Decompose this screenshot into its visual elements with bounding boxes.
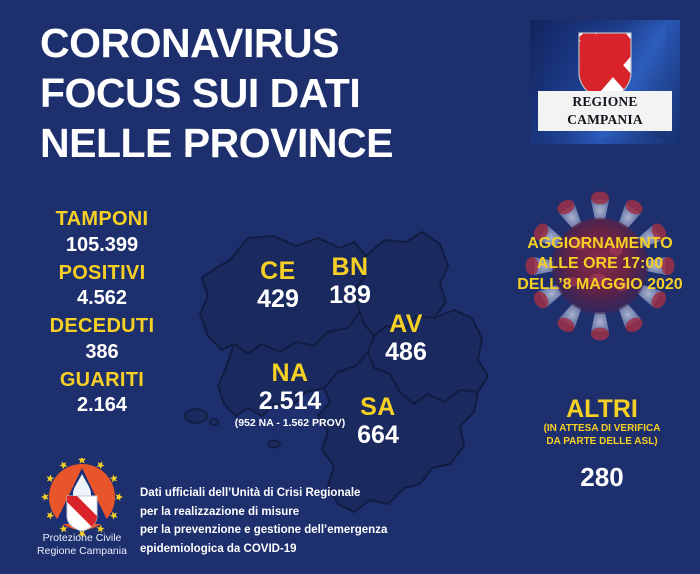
province-label-napoli: NA 2.514 (952 NA - 1.562 PROV): [222, 360, 358, 429]
province-note-na: (952 NA - 1.562 PROV): [222, 417, 358, 430]
stat-item: POSITIVI 4.562: [22, 262, 182, 313]
title-line-1: CORONAVIRUS: [40, 18, 490, 68]
stat-label-guariti: GUARITI: [22, 369, 182, 393]
altri-title: ALTRI: [512, 396, 692, 422]
province-code-ce: CE: [238, 258, 318, 285]
footer-note: Dati ufficiali dell’Unità di Crisi Regio…: [140, 484, 470, 559]
footer-line-2: per la realizzazione di misure: [140, 503, 470, 522]
update-text: AGGIORNAMENTO ALLE ORE 17:00 DELL’8 MAGG…: [506, 234, 694, 295]
stat-value-positivi: 4.562: [22, 285, 182, 312]
footer-line-1: Dati ufficiali dell’Unità di Crisi Regio…: [140, 484, 470, 503]
pc-caption-line-1: Protezione Civile: [28, 532, 136, 545]
island-ischia: [185, 409, 207, 423]
regione-campania-logo: REGIONE CAMPANIA: [530, 20, 680, 144]
footer-line-4: epidemiologica da COVID-19: [140, 540, 470, 559]
province-label-benevento: BN 189: [312, 254, 388, 311]
stat-value-tamponi: 105.399: [22, 232, 182, 259]
page-title: CORONAVIRUS FOCUS SUI DATI NELLE PROVINC…: [40, 18, 490, 168]
province-value-na: 2.514: [222, 387, 358, 417]
protezione-civile-caption: Protezione Civile Regione Campania: [28, 532, 136, 559]
regione-name-text: REGIONE CAMPANIA: [567, 94, 643, 127]
stat-item: DECEDUTI 386: [22, 315, 182, 366]
protezione-civile-icon: [35, 458, 129, 536]
province-value-av: 486: [366, 338, 446, 368]
province-label-caserta: CE 429: [238, 258, 318, 315]
altri-note-line-1: (IN ATTESA DI VERIFICA: [512, 423, 692, 435]
statistics-panel: TAMPONI 105.399 POSITIVI 4.562 DECEDUTI …: [22, 208, 182, 422]
province-value-sa: 664: [340, 421, 416, 451]
altri-note-line-2: DA PARTE DELLE ASL): [512, 436, 692, 448]
stat-label-positivi: POSITIVI: [22, 262, 182, 286]
update-line-2: ALLE ORE 17:00: [506, 254, 694, 274]
title-line-3: NELLE PROVINCE: [40, 118, 490, 168]
province-value-bn: 189: [312, 281, 388, 311]
protezione-civile-logo: Protezione Civile Regione Campania: [28, 458, 136, 564]
footer-line-3: per la prevenzione e gestione dell’emerg…: [140, 521, 470, 540]
title-line-2: FOCUS SUI DATI: [40, 68, 490, 118]
stat-value-deceduti: 386: [22, 339, 182, 366]
province-code-av: AV: [366, 311, 446, 338]
update-block: AGGIORNAMENTO ALLE ORE 17:00 DELL’8 MAGG…: [506, 188, 694, 350]
altri-block: ALTRI (IN ATTESA DI VERIFICA DA PARTE DE…: [512, 396, 692, 493]
stat-label-deceduti: DECEDUTI: [22, 315, 182, 339]
province-value-ce: 429: [238, 285, 318, 315]
update-line-1: AGGIORNAMENTO: [506, 234, 694, 254]
pc-caption-line-2: Regione Campania: [28, 545, 136, 558]
island-procida: [210, 419, 219, 425]
stat-item: GUARITI 2.164: [22, 369, 182, 420]
province-label-salerno: SA 664: [340, 394, 416, 451]
stat-value-guariti: 2.164: [22, 392, 182, 419]
update-line-3: DELL’8 MAGGIO 2020: [506, 275, 694, 295]
stat-label-tamponi: TAMPONI: [22, 208, 182, 232]
province-label-avellino: AV 486: [366, 311, 446, 368]
province-code-na: NA: [222, 360, 358, 387]
infographic-canvas: CORONAVIRUS FOCUS SUI DATI NELLE PROVINC…: [0, 0, 700, 574]
altri-value: 280: [512, 462, 692, 493]
island-capri: [268, 440, 280, 447]
regione-name-bar: REGIONE CAMPANIA: [538, 91, 672, 131]
province-code-bn: BN: [312, 254, 388, 281]
stat-item: TAMPONI 105.399: [22, 208, 182, 259]
province-code-sa: SA: [340, 394, 416, 421]
